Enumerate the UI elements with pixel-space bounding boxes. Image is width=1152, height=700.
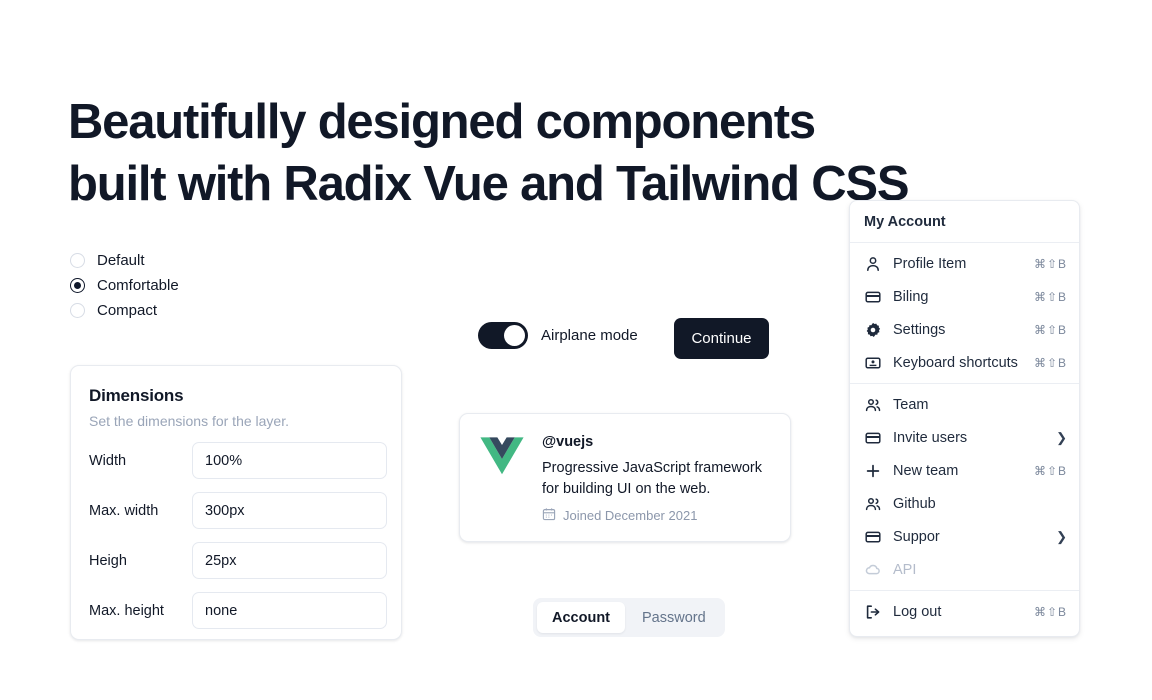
vue-joined-row: Joined December 2021	[542, 507, 782, 524]
hover-card-body: @vuejs Progressive JavaScript framework …	[542, 432, 782, 541]
radio-option-compact[interactable]: Compact	[70, 298, 300, 323]
page-root: Beautifully designed components built wi…	[0, 0, 1152, 700]
chevron-right-icon: ❯	[1056, 530, 1067, 543]
dimensions-field-row: Heigh	[89, 542, 383, 579]
dimensions-field-row: Max. width	[89, 492, 383, 529]
menu-item-label: Keyboard shortcuts	[893, 355, 1022, 371]
dimensions-field-row: Max. height	[89, 592, 383, 629]
radio-option-default[interactable]: Default	[70, 248, 300, 273]
tab-account[interactable]: Account	[537, 602, 625, 633]
users-icon	[864, 396, 881, 413]
dimensions-field-row: Width	[89, 442, 383, 479]
dimensions-title: Dimensions	[89, 386, 383, 406]
menu-item-settings[interactable]: Settings ⌘⇧B	[850, 313, 1079, 346]
menu-item-billing[interactable]: Biling ⌘⇧B	[850, 280, 1079, 313]
menu-group-account: Profile Item ⌘⇧B Biling ⌘⇧B	[850, 243, 1079, 383]
menu-item-label: Suppor	[893, 529, 1044, 545]
menu-item-log-out[interactable]: Log out ⌘⇧B	[850, 595, 1079, 628]
account-dropdown-menu: My Account Profile Item ⌘⇧B	[849, 200, 1080, 637]
airplane-mode-switch[interactable]	[478, 322, 528, 349]
menu-item-shortcut: ⌘⇧B	[1034, 290, 1067, 304]
user-icon	[864, 255, 881, 272]
menu-item-support[interactable]: Suppor ❯	[850, 520, 1079, 553]
max-width-label: Max. width	[89, 503, 192, 519]
users-icon	[864, 495, 881, 512]
menu-item-label: Log out	[893, 604, 1022, 620]
vue-description: Progressive JavaScript framework for bui…	[542, 458, 782, 500]
menu-item-team[interactable]: Team	[850, 388, 1079, 421]
switch-knob	[504, 325, 525, 346]
dimensions-card: Dimensions Set the dimensions for the la…	[70, 365, 402, 640]
menu-item-label: Team	[893, 397, 1055, 413]
menu-group-session: Log out ⌘⇧B	[850, 591, 1079, 632]
max-height-label: Max. height	[89, 603, 192, 619]
settings-tabs: Account Password	[533, 598, 725, 637]
max-height-input[interactable]	[192, 592, 387, 629]
menu-item-shortcut: ⌘⇧B	[1034, 356, 1067, 370]
menu-item-github[interactable]: Github	[850, 487, 1079, 520]
menu-item-label: New team	[893, 463, 1022, 479]
menu-item-keyboard-shortcuts[interactable]: Keyboard shortcuts ⌘⇧B	[850, 346, 1079, 379]
radio-indicator-icon[interactable]	[70, 253, 85, 268]
menu-item-label: Invite users	[893, 430, 1044, 446]
menu-header: My Account	[850, 201, 1079, 242]
page-title: Beautifully designed components built wi…	[68, 91, 1028, 215]
menu-item-label: API	[893, 562, 1055, 578]
dimensions-description: Set the dimensions for the layer.	[89, 413, 383, 429]
height-label: Heigh	[89, 553, 192, 569]
menu-item-profile[interactable]: Profile Item ⌘⇧B	[850, 247, 1079, 280]
logout-icon	[864, 603, 881, 620]
credit-card-icon	[864, 429, 881, 446]
width-label: Width	[89, 453, 192, 469]
radio-indicator-icon[interactable]	[70, 303, 85, 318]
height-input[interactable]	[192, 542, 387, 579]
gear-icon	[864, 321, 881, 338]
max-width-input[interactable]	[192, 492, 387, 529]
credit-card-icon	[864, 288, 881, 305]
radio-label: Comfortable	[97, 277, 179, 294]
menu-item-new-team[interactable]: New team ⌘⇧B	[850, 454, 1079, 487]
cloud-icon	[864, 561, 881, 578]
continue-button[interactable]: Continue	[674, 318, 769, 359]
airplane-mode-row: Airplane mode	[478, 322, 638, 349]
menu-item-label: Profile Item	[893, 256, 1022, 272]
menu-item-api: API	[850, 553, 1079, 586]
menu-item-invite-users[interactable]: Invite users ❯	[850, 421, 1079, 454]
vue-handle: @vuejs	[542, 434, 782, 450]
menu-group-team: Team Invite users ❯	[850, 384, 1079, 590]
radio-group: Default Comfortable Compact	[70, 248, 300, 323]
chevron-right-icon: ❯	[1056, 431, 1067, 444]
menu-item-label: Biling	[893, 289, 1022, 305]
menu-item-shortcut: ⌘⇧B	[1034, 257, 1067, 271]
airplane-mode-label: Airplane mode	[541, 327, 638, 344]
calendar-icon	[542, 507, 556, 524]
radio-indicator-selected-icon[interactable]	[70, 278, 85, 293]
menu-item-label: Settings	[893, 322, 1022, 338]
tab-password[interactable]: Password	[627, 602, 721, 633]
vue-logo-icon	[480, 436, 524, 476]
vue-joined-text: Joined December 2021	[563, 508, 697, 523]
credit-card-icon	[864, 528, 881, 545]
radio-label: Compact	[97, 302, 157, 319]
menu-item-shortcut: ⌘⇧B	[1034, 323, 1067, 337]
plus-icon	[864, 462, 881, 479]
radio-option-comfortable[interactable]: Comfortable	[70, 273, 300, 298]
vue-hover-card: @vuejs Progressive JavaScript framework …	[459, 413, 791, 542]
menu-item-label: Github	[893, 496, 1055, 512]
radio-label: Default	[97, 252, 145, 269]
menu-item-shortcut: ⌘⇧B	[1034, 464, 1067, 478]
menu-item-shortcut: ⌘⇧B	[1034, 605, 1067, 619]
width-input[interactable]	[192, 442, 387, 479]
keyboard-icon	[864, 354, 881, 371]
